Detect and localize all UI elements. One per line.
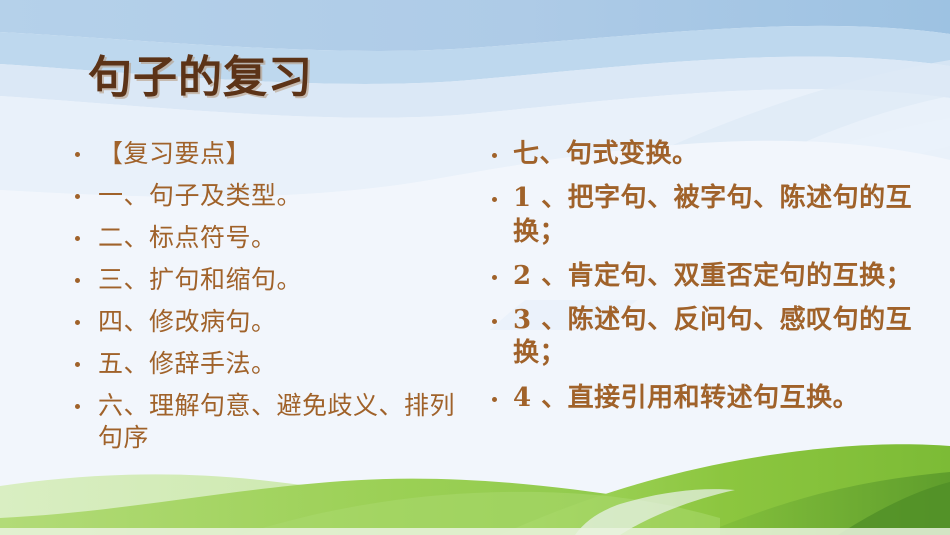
hill-far-right-accent [838,482,950,535]
sky-band-top [0,0,950,51]
hill-right-main [500,444,950,535]
bottom-strip [0,528,950,535]
bullet-item-rhetoric: 五、修辞手法。 [66,348,466,380]
bullet-item-declarative-rhetorical-exclamatory: 3 、陈述句、反问句、感叹句的互换； [483,304,935,371]
hill-crest-highlight [240,492,720,535]
bullet-item-review-points: 【复习要点】 [66,138,466,170]
bullet-item-sentence-types: 一、句子及类型。 [66,180,466,212]
page-title: 句子的复习 [88,55,313,101]
bullet-item-fix-sentences: 四、修改病句。 [66,306,466,338]
bullet-item-punctuation: 二、标点符号。 [66,222,466,254]
bullet-item-ba-bei-declarative: 1 、把字句、被字句、陈述句的互换； [483,182,935,249]
bullet-item-meaning-ambiguity-order: 六、理解句意、避免歧义、排列句序 [66,390,466,454]
hill-pale-left [0,474,480,535]
hill-right-dark [700,472,950,535]
bullet-item-affirmative-double-negative: 2 、肯定句、双重否定句的互换； [483,260,935,293]
bullet-item-sentence-transformation: 七、句式变换。 [483,138,935,171]
slide-canvas: 句子的复习 【复习要点】 一、句子及类型。 二、标点符号。 三、扩句和缩句。 四… [0,0,950,535]
bullet-item-direct-indirect-quote: 4 、直接引用和转述句互换。 [483,382,935,415]
hill-valley-notch [575,489,735,535]
left-bullet-column: 【复习要点】 一、句子及类型。 二、标点符号。 三、扩句和缩句。 四、修改病句。… [66,138,466,464]
bullet-item-expand-contract: 三、扩句和缩句。 [66,264,466,296]
hill-left-main [0,479,660,535]
right-bullet-column: 七、句式变换。 1 、把字句、被字句、陈述句的互换； 2 、肯定句、双重否定句的… [483,138,935,426]
